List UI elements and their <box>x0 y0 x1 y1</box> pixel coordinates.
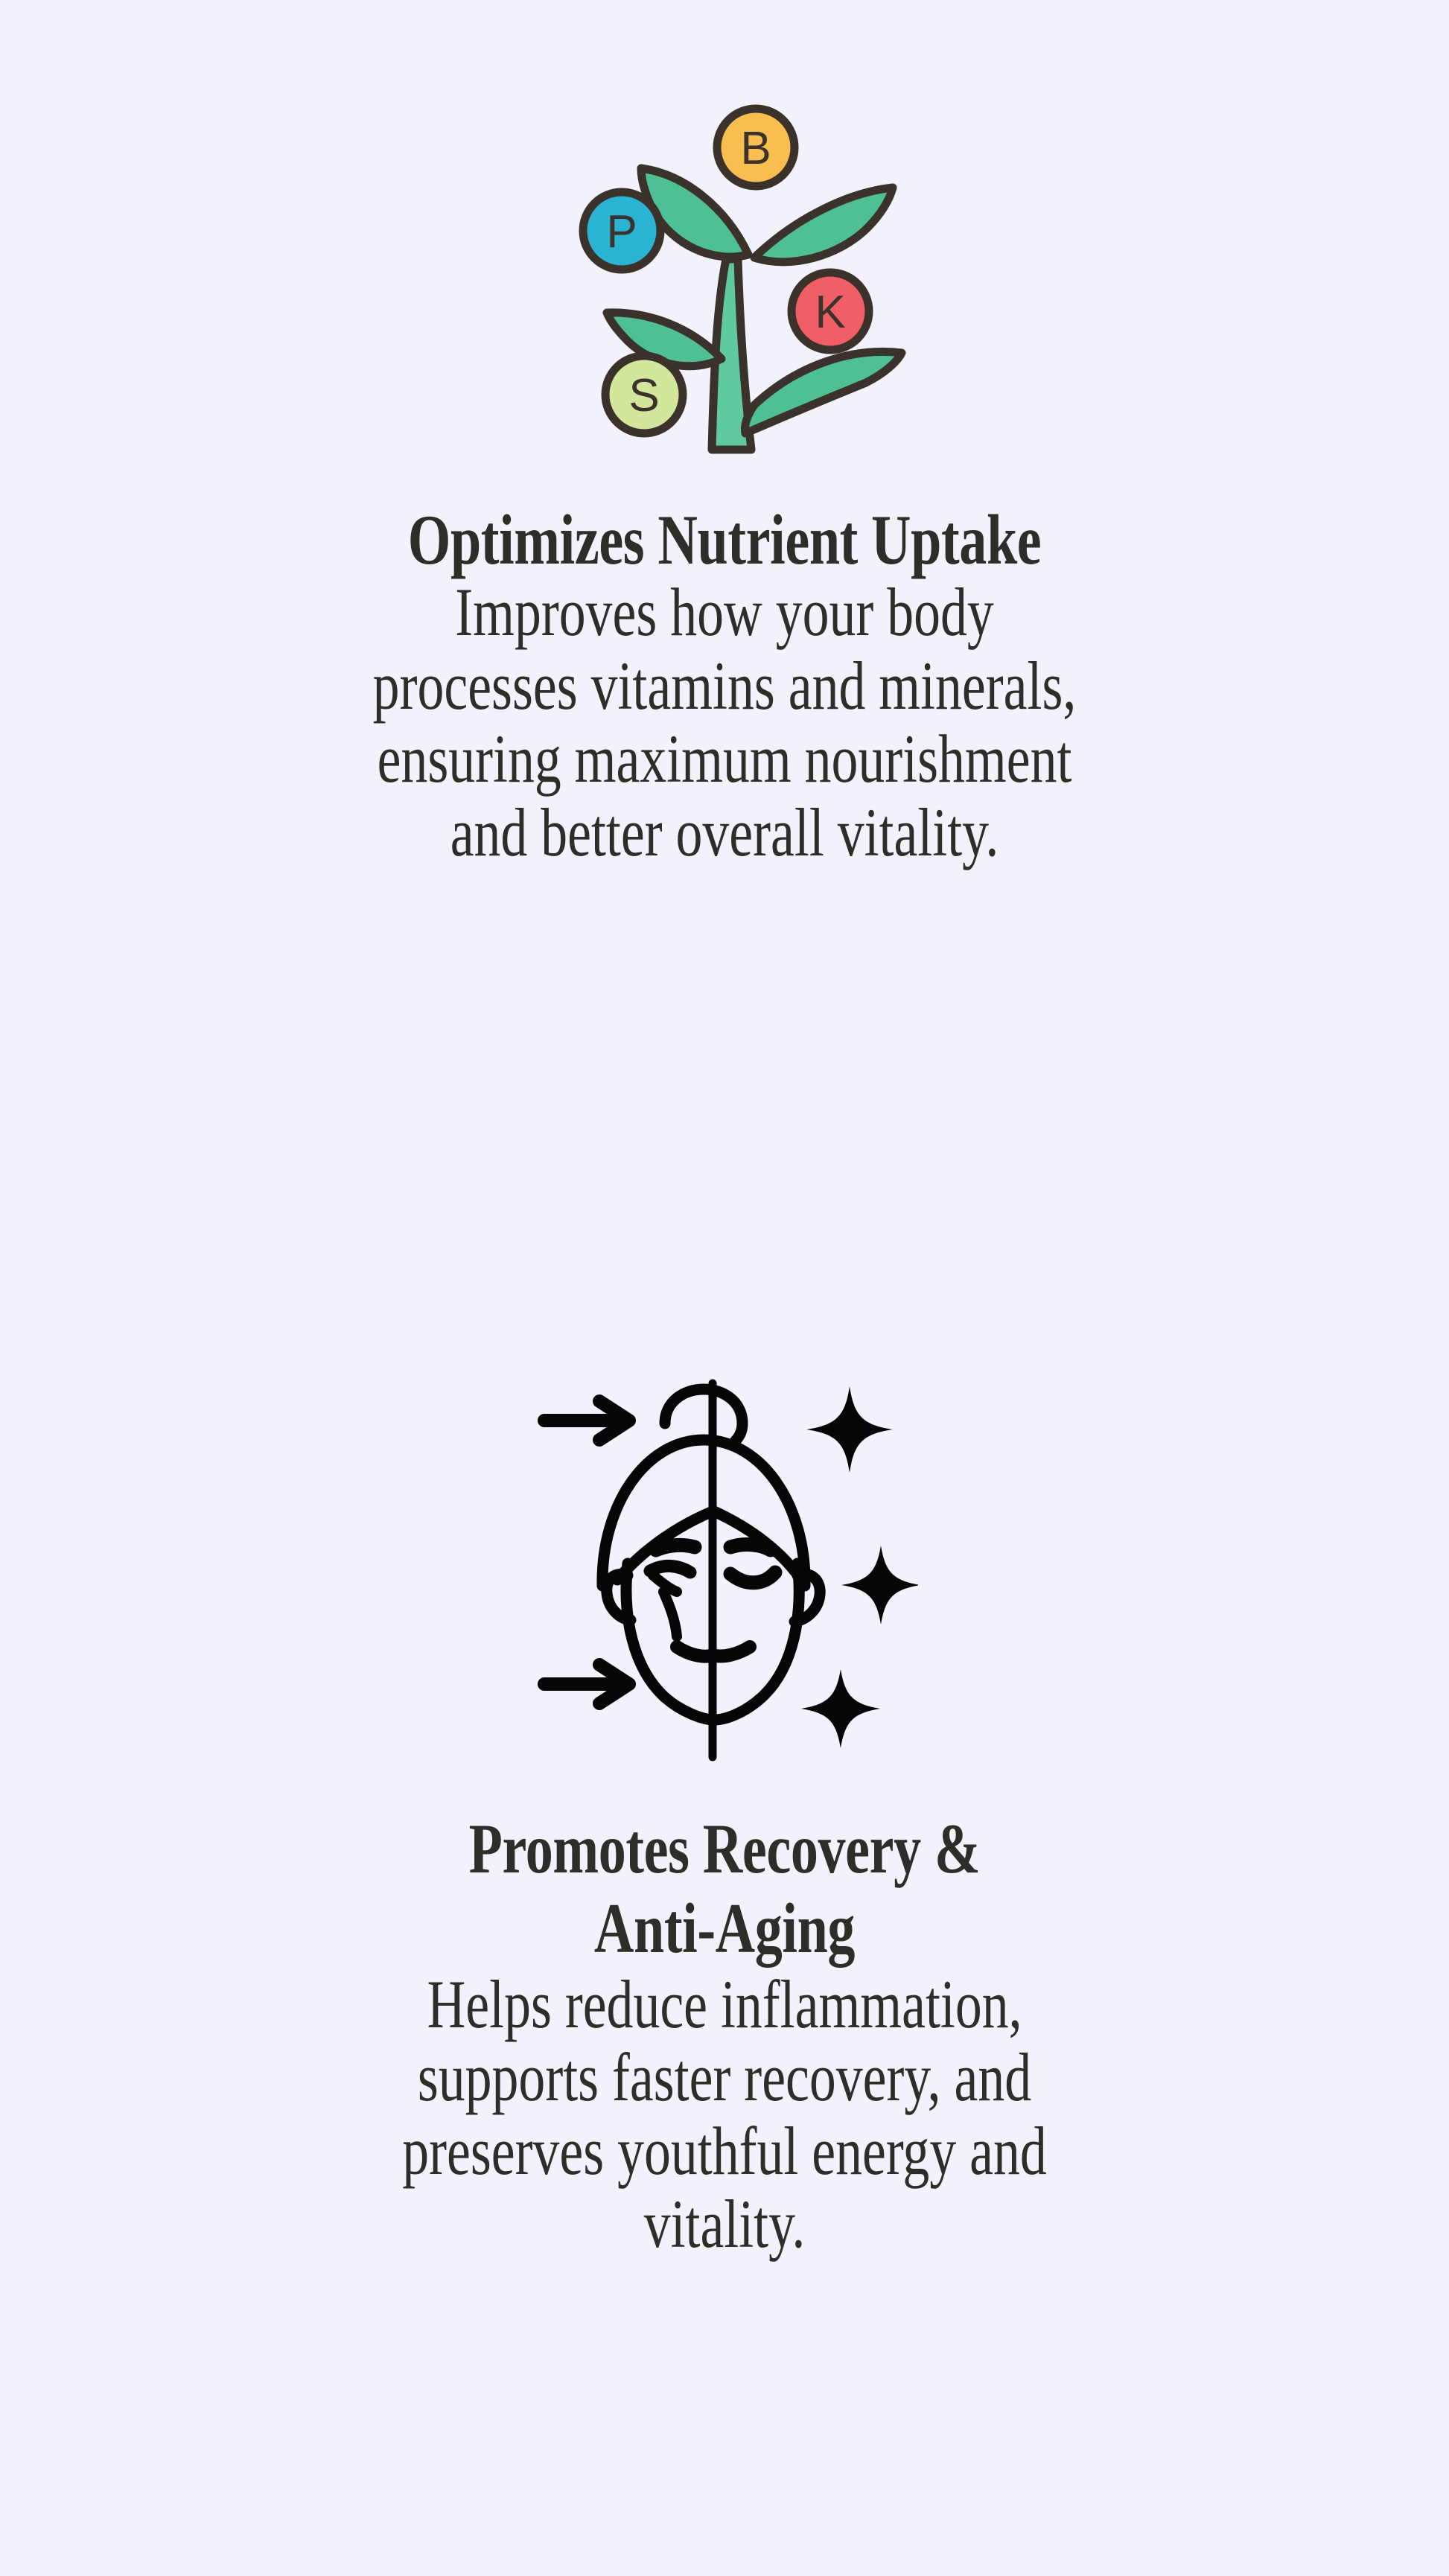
eye-right-youthful <box>730 1572 775 1583</box>
benefit-description-recovery: Helps reduce inflammation, supports fast… <box>246 1968 1204 2261</box>
sparkle-icon-middle <box>841 1546 918 1625</box>
sparkle-icon-bottom <box>801 1669 880 1748</box>
eyebrow-right <box>730 1545 771 1550</box>
badge-label-b: B <box>740 123 771 174</box>
leaf-upper-right <box>754 188 893 262</box>
benefit-card-recovery-anti-aging: Promotes Recovery & Anti-Aging Helps red… <box>0 1340 1449 2260</box>
benefit-title-nutrient: Optimizes Nutrient Uptake <box>246 500 1204 580</box>
leaf-lower-right <box>745 351 902 433</box>
sparkle-icon-top <box>806 1386 893 1473</box>
mouth-right <box>716 1647 750 1657</box>
wrinkle-cheek-left <box>663 1592 677 1636</box>
plant-nutrients-icon: B P K S <box>531 97 918 484</box>
benefit-card-nutrient-uptake: B P K S Optimizes Nutrient Uptake Improv… <box>0 97 1449 869</box>
badge-label-p: P <box>606 206 637 258</box>
hair-bun <box>665 1389 742 1441</box>
anti-aging-face-icon <box>531 1340 918 1787</box>
badge-label-k: K <box>815 287 845 338</box>
benefit-title-recovery: Promotes Recovery & Anti-Aging <box>246 1809 1204 1969</box>
anti-aging-illustration <box>531 1340 918 1787</box>
eyebrow-left <box>656 1545 695 1550</box>
mouth-left <box>677 1647 711 1657</box>
benefits-page: B P K S Optimizes Nutrient Uptake Improv… <box>0 0 1449 2576</box>
benefit-description-nutrient: Improves how your body processes vitamin… <box>246 576 1204 869</box>
benefit-text-recovery: Promotes Recovery & Anti-Aging Helps red… <box>110 1787 1339 2260</box>
plant-nutrients-illustration: B P K S <box>531 97 918 484</box>
badge-label-s: S <box>628 370 659 421</box>
benefit-text-nutrient: Optimizes Nutrient Uptake Improves how y… <box>110 484 1339 869</box>
